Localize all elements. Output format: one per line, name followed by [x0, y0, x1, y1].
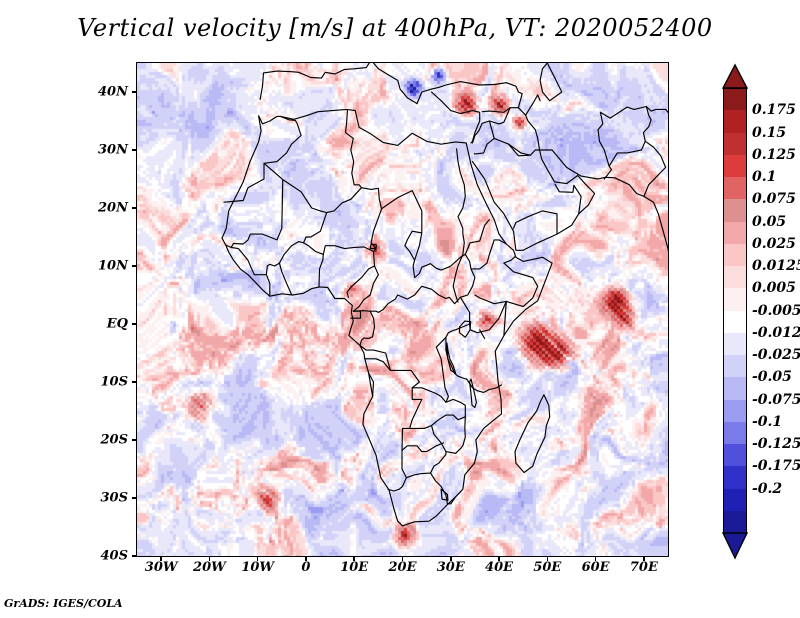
x-axis-label: 20E [389, 560, 417, 575]
chart-stage: Vertical velocity [m/s] at 400hPa, VT: 2… [0, 0, 800, 618]
colorbar-swatch [723, 155, 747, 179]
colorbar-tick-label: 0.15 [752, 125, 786, 141]
y-tick [132, 149, 137, 151]
y-tick [132, 91, 137, 93]
map-plot-area [137, 63, 668, 556]
colorbar-swatch [723, 244, 747, 268]
colorbar-swatch [723, 177, 747, 201]
y-axis-label: 20N [80, 201, 128, 216]
colorbar-swatch [723, 466, 747, 490]
y-axis-label: 10S [80, 375, 128, 390]
map-boundary-line [506, 83, 522, 108]
map-boundary-line [494, 138, 539, 155]
x-axis-label: 40E [485, 560, 513, 575]
map-boundary-line [353, 209, 381, 312]
attribution-footer: GrADS: IGES/COLA [4, 597, 123, 610]
map-boundary-line [514, 211, 558, 234]
y-axis-label: 30S [80, 491, 128, 506]
colorbar-tick-label: 0.025 [752, 236, 796, 252]
colorbar-tick-label: 0.0125 [752, 258, 800, 274]
x-axis-label: 30W [145, 560, 178, 575]
map-boundary-line [222, 109, 552, 525]
map-boundary-line [526, 95, 541, 115]
colorbar-swatch [723, 355, 747, 379]
y-tick [132, 381, 137, 383]
map-boundary-line [475, 295, 506, 304]
colorbar-tick-label: 0.175 [752, 102, 796, 118]
colorbar-arrow-min [723, 533, 747, 558]
map-boundary-line [319, 246, 374, 287]
colorbar-tick-label: 0.075 [752, 191, 796, 207]
y-tick [132, 265, 137, 267]
colorbar-swatch [723, 88, 747, 112]
map-boundary-line [410, 337, 449, 428]
colorbar [723, 88, 747, 533]
map-boundary-line [226, 245, 267, 275]
map-boundary-line [609, 107, 651, 167]
map-boundary-line [388, 427, 428, 491]
y-tick [132, 323, 137, 325]
map-boundary-line [406, 452, 446, 478]
colorbar-tick-label: -0.2 [752, 481, 782, 497]
map-boundary-line [402, 443, 444, 452]
colorbar-tick-label: -0.05 [752, 369, 792, 385]
colorbar-tick-label: -0.075 [752, 392, 800, 408]
page-title: Vertical velocity [m/s] at 400hPa, VT: 2… [0, 14, 790, 42]
map-boundary-line [600, 107, 665, 119]
colorbar-swatch [723, 400, 747, 424]
x-axis-label: 10E [340, 560, 368, 575]
colorbar-swatch [723, 511, 747, 535]
map-boundary-line [453, 149, 465, 302]
map-boundary-line [598, 112, 612, 179]
colorbar-tick-label: -0.005 [752, 303, 800, 319]
map-boundary-line [473, 150, 669, 263]
x-axis-label: 0 [301, 560, 310, 575]
colorbar-swatch [723, 133, 747, 157]
map-boundary-line [471, 240, 506, 269]
map-boundary-line [540, 63, 562, 101]
colorbar-swatch [723, 266, 747, 290]
x-axis-label: 50E [533, 560, 561, 575]
map-boundary-line [432, 417, 466, 454]
map-boundary-line [446, 324, 502, 392]
colorbar-tick-label: -0.025 [752, 347, 800, 363]
colorbar-swatch [723, 422, 747, 446]
colorbar-tick-label: 0.005 [752, 280, 796, 296]
map-boundary-line [460, 321, 471, 337]
colorbar-tick-label: -0.125 [752, 436, 800, 452]
colorbar-swatch [723, 377, 747, 401]
map-boundary-line [304, 213, 327, 243]
map-boundary-line [279, 263, 291, 294]
map-boundary-line [470, 379, 477, 407]
map-boundary-line [574, 185, 581, 213]
x-axis-label: 70E [630, 560, 658, 575]
x-axis-label: 30E [437, 560, 465, 575]
y-tick [132, 207, 137, 209]
map-boundary-line [432, 92, 480, 143]
colorbar-swatch [723, 489, 747, 513]
colorbar-arrow-max [723, 65, 747, 88]
x-axis-label: 60E [582, 560, 610, 575]
colorbar-swatch [723, 110, 747, 134]
country-borders-overlay [137, 63, 668, 556]
map-boundary-line [447, 343, 456, 373]
map-boundary-line [428, 399, 466, 427]
map-boundary-line [224, 116, 301, 202]
map-boundary-line [555, 184, 574, 192]
colorbar-tick-label: -0.0125 [752, 325, 800, 341]
y-axis-label: 30N [80, 143, 128, 158]
y-axis-label: 20S [80, 433, 128, 448]
y-tick [132, 439, 137, 441]
y-axis-label: 40N [80, 85, 128, 100]
x-axis-label: 10W [241, 560, 274, 575]
map-boundary-line [515, 395, 550, 473]
y-axis-label: 40S [80, 549, 128, 564]
colorbar-swatch [723, 333, 747, 357]
colorbar-tick-label: -0.175 [752, 458, 800, 474]
map-boundary-line [644, 141, 666, 196]
colorbar-swatch [723, 288, 747, 312]
x-axis-label: 20W [193, 560, 226, 575]
colorbar-tick-label: 0.1 [752, 169, 776, 185]
colorbar-swatch [723, 222, 747, 246]
map-boundary-line [504, 263, 538, 336]
colorbar-tick-label: 0.125 [752, 147, 796, 163]
map-boundary-line [360, 311, 375, 345]
colorbar-tick-label: 0.05 [752, 214, 786, 230]
colorbar-swatch [723, 199, 747, 223]
map-boundary-line [465, 220, 489, 255]
y-axis-label: EQ [80, 317, 128, 332]
y-tick [132, 497, 137, 499]
map-boundary-line [264, 110, 362, 213]
colorbar-swatch [723, 444, 747, 468]
y-axis-label: 10N [80, 259, 128, 274]
map-boundary-line [260, 63, 506, 104]
colorbar-tick-label: -0.1 [752, 414, 782, 430]
map-boundary-line [504, 257, 515, 263]
map-boundary-line [666, 109, 668, 160]
y-tick [132, 555, 137, 557]
colorbar-swatch [723, 311, 747, 335]
map-boundary-line [482, 108, 510, 113]
